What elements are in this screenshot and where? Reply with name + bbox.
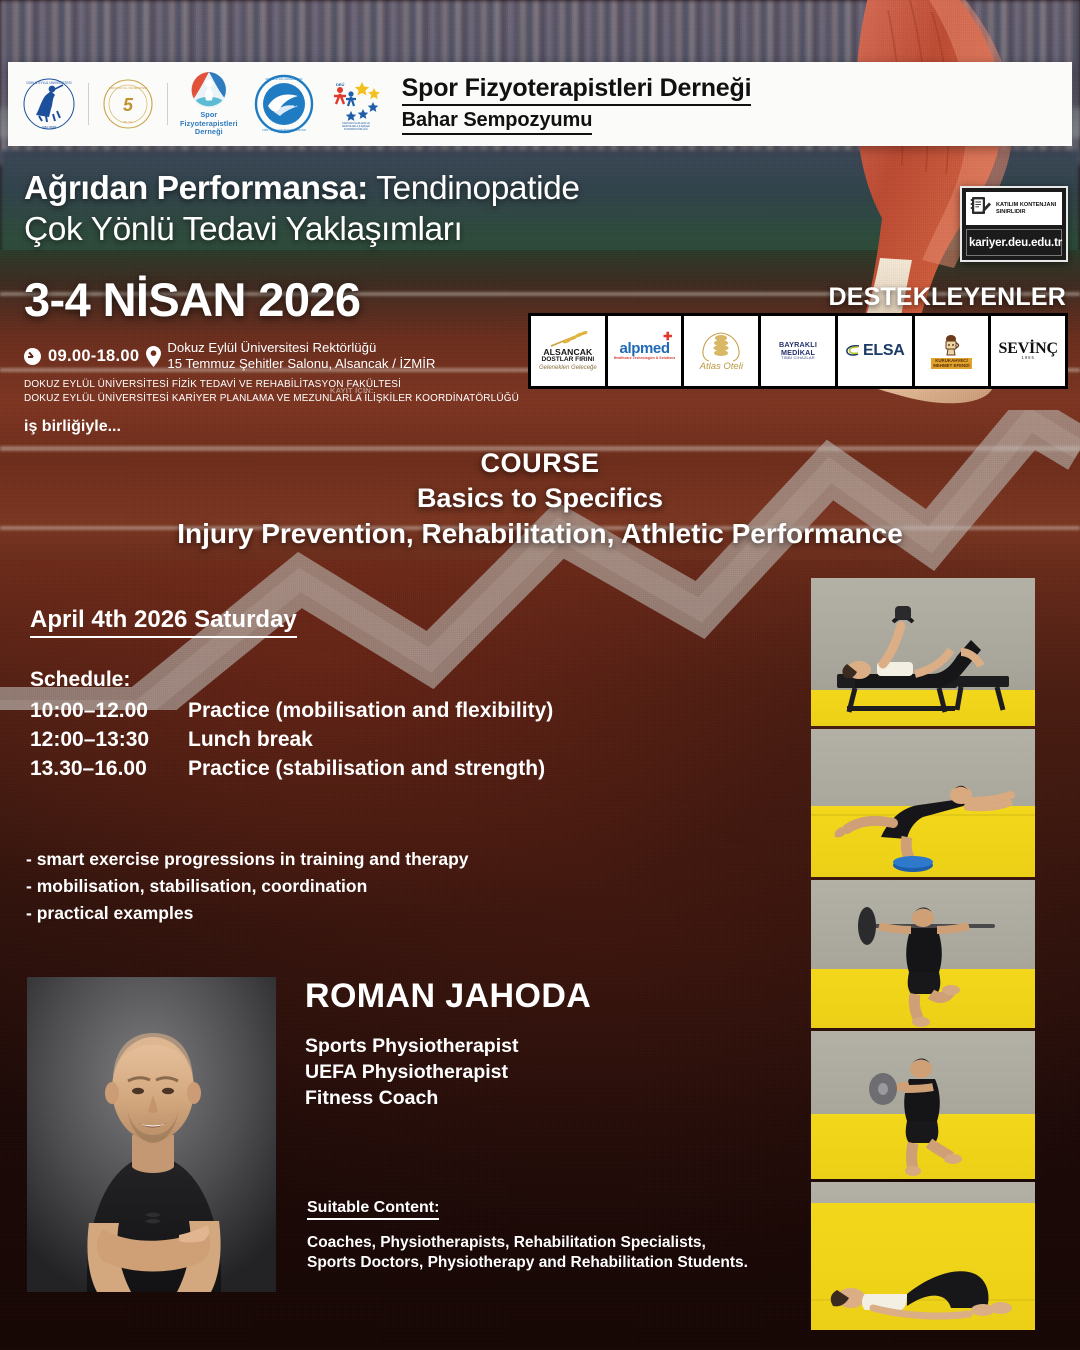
header-logo-group: DOKUZ EYLÜL ÜNİVERSİTESİ 1982 İZMİR 5 DO…: [8, 71, 384, 136]
schedule-block: Schedule: 10:00–12.00 Practice (mobilisa…: [30, 668, 553, 783]
course-label: COURSE: [0, 448, 1080, 479]
poster-root: DOKUZ EYLÜL ÜNİVERSİTESİ 1982 İZMİR 5 DO…: [0, 0, 1080, 1350]
atlas-oteli-logo: Atlas Oteli: [684, 316, 758, 386]
svg-text:DEÜ: DEÜ: [336, 82, 345, 87]
exercise-photo-barbell-front-squat-knee-raise: [811, 880, 1035, 1028]
quota-note-line-1: KATILIM KONTENJANI: [996, 202, 1056, 208]
course-heading-block: COURSE Basics to Specifics Injury Preven…: [0, 448, 1080, 550]
sponsor-text-1b: DOSTLAR FIRINI: [539, 357, 597, 364]
sevinc-logo: SEVİNÇ 1965: [991, 316, 1065, 386]
schedule-desc: Practice (stabilisation and strength): [188, 754, 545, 783]
suitable-content-heading: Suitable Content:: [307, 1199, 439, 1220]
svg-text:KOORDİNATÖRLÜĞÜ: KOORDİNATÖRLÜĞÜ: [344, 128, 369, 130]
bullet-item: - practical examples: [26, 900, 469, 927]
exercise-photo-strip: [811, 578, 1035, 1333]
speaker-role: Fitness Coach: [305, 1085, 518, 1111]
sponsor-text-3b: Atlas Oteli: [697, 362, 745, 372]
event-time: 09.00-18.00: [48, 347, 139, 366]
headline-bold: Ağrıdan Performansa:: [24, 170, 368, 207]
venue-line-2: 15 Temmuz Şehitler Salonu, Alsancak / İZ…: [167, 356, 435, 371]
sponsor-text-2b: Healthcare Technologies & Solutions: [614, 357, 676, 360]
schedule-heading: Schedule:: [30, 668, 553, 692]
sponsors-label: DESTEKLEYENLER: [828, 283, 1066, 312]
header-band: DOKUZ EYLÜL ÜNİVERSİTESİ 1982 İZMİR 5 DO…: [8, 62, 1072, 146]
course-bullets: - smart exercise progressions in trainin…: [26, 846, 469, 927]
venue-line-1: Dokuz Eylül Üniversitesi Rektörlüğü: [167, 340, 376, 355]
organiser-line-1: DOKUZ EYLÜL ÜNİVERSİTESİ FİZİK TEDAVİ VE…: [24, 378, 519, 392]
svg-text:5: 5: [123, 95, 134, 115]
logo-divider-2: [167, 83, 168, 125]
organiser-line-2: DOKUZ EYLÜL ÜNİVERSİTESİ KARİYER PLANLAM…: [24, 392, 519, 406]
kurukahveci-mehmet-efendi-logo: KURUKAHVECİ MEHMET EFENDİ: [915, 316, 989, 386]
schedule-time: 10:00–12.00: [30, 696, 188, 725]
schedule-day-title: April 4th 2026 Saturday: [30, 606, 297, 638]
alsancak-dostlar-firini-logo: ALSANCAK DOSTLAR FIRINI Geleneklen Gelec…: [531, 316, 605, 386]
anniversary-seal-logo: 5 DOKUZ EYLÜL ÜNİVERSİTESİ 50. YIL: [101, 77, 155, 131]
speaker-roles: Sports Physiotherapist UEFA Physiotherap…: [305, 1033, 518, 1111]
quota-note-row: KATILIM KONTENJANI SINIRLIDIR: [966, 192, 1062, 225]
suitable-line-2: Sports Doctors, Physiotherapy and Rehabi…: [307, 1253, 748, 1273]
schedule-row: 13.30–16.00 Practice (stabilisation and …: [30, 754, 553, 783]
schedule-desc: Lunch break: [188, 725, 313, 754]
exercise-photo-glute-bridge: [811, 1182, 1035, 1330]
schedule-row: 12:00–13:30 Lunch break: [30, 725, 553, 754]
svg-text:50. YIL: 50. YIL: [124, 120, 133, 124]
organisers: DOKUZ EYLÜL ÜNİVERSİTESİ FİZİK TEDAVİ VE…: [24, 378, 519, 405]
registration-badge[interactable]: KATILIM KONTENJANI SINIRLIDIR kariyer.de…: [960, 186, 1068, 262]
exercise-photo-bench-kettlebell-press: [811, 578, 1035, 726]
event-meta-row: 09.00-18.00 Dokuz Eylül Üniversitesi Rek…: [24, 340, 435, 372]
sponsor-strip: ALSANCAK DOSTLAR FIRINI Geleneklen Gelec…: [528, 313, 1068, 389]
elsa-swoosh-icon: [845, 344, 861, 358]
collaboration-note: iş birliğiyle...: [24, 418, 121, 436]
symposium-subtitle: Bahar Sempozyumu: [402, 109, 593, 135]
symposium-title: Spor Fizyoterapistleri Derneği: [402, 74, 752, 106]
roman-jahoda-portrait: [27, 977, 276, 1292]
page-title: Ağrıdan Performansa: Tendinopatide Çok Y…: [24, 168, 764, 250]
svg-text:DOKUZ EYLÜL ÜNİVERSİTESİ: DOKUZ EYLÜL ÜNİVERSİTESİ: [109, 85, 147, 90]
sponsor-text-6b: MEHMET EFENDİ: [933, 364, 969, 369]
registration-note: KAYIT İÇİN:: [330, 386, 374, 395]
event-venue: Dokuz Eylül Üniversitesi Rektörlüğü 15 T…: [167, 340, 435, 372]
speaker-role: UEFA Physiotherapist: [305, 1059, 518, 1085]
spor-fizyoterapistleri-dernegi-logo: SporFizyoterapistleriDerneği: [180, 71, 238, 136]
schedule-row: 10:00–12.00 Practice (mobilisation and f…: [30, 696, 553, 725]
sponsor-text-1c: Geleneklen Geleceğe: [539, 365, 597, 371]
event-date: 3-4 NİSAN 2026: [24, 272, 360, 327]
logo-divider: [88, 83, 89, 125]
svg-text:1982 İZMİR: 1982 İZMİR: [42, 124, 57, 129]
schedule-desc: Practice (mobilisation and flexibility): [188, 696, 553, 725]
sponsor-text-4a: BAYRAKLI MEDİKAL: [761, 341, 835, 356]
speaker-role: Sports Physiotherapist: [305, 1033, 518, 1059]
bullet-item: - smart exercise progressions in trainin…: [26, 846, 469, 873]
sponsor-text-5a: ELSA: [863, 343, 904, 360]
schedule-time: 12:00–13:30: [30, 725, 188, 754]
clock-icon: [24, 348, 41, 365]
sponsor-text-4b: TIBBİ CİHAZLAR: [761, 356, 835, 360]
spor-dernegi-logo-caption: SporFizyoterapistleriDerneği: [180, 111, 238, 136]
suitable-line-1: Coaches, Physiotherapists, Rehabilitatio…: [307, 1233, 748, 1253]
quota-note-text: KATILIM KONTENJANI SINIRLIDIR: [996, 202, 1056, 216]
svg-text:DOKUZ EYLÜL ÜNİVERSİTESİ: DOKUZ EYLÜL ÜNİVERSİTESİ: [26, 80, 71, 85]
header-title-group: Spor Fizyoterapistleri Derneği Bahar Sem…: [402, 74, 752, 135]
registration-url[interactable]: kariyer.deu.edu.tr: [966, 229, 1062, 256]
course-topics: Injury Prevention, Rehabilitation, Athle…: [0, 518, 1080, 550]
bullet-item: - mobilisation, stabilisation, coordinat…: [26, 873, 469, 900]
schedule-time: 13.30–16.00: [30, 754, 188, 783]
speaker-name: ROMAN JAHODA: [305, 977, 591, 1016]
location-pin-icon: [146, 346, 161, 367]
fizik-tedavi-fakultesi-logo: DOKUZ EYLÜL ÜNİVERSİTESİ FİZİK TEDAVİ VE…: [254, 74, 314, 134]
alpmed-logo: ✚ alpmed Healthcare Technologies & Solut…: [608, 316, 682, 386]
quota-note-line-2: SINIRLIDIR: [996, 209, 1026, 215]
deu-kariyer-planlama-logo: DEÜ KARİYER PLANLAMA VE MEZUNLARLA İLİŞK…: [328, 78, 384, 130]
elsa-logo: ELSA: [838, 316, 912, 386]
medical-cross-icon: ✚: [663, 332, 672, 344]
registration-form-icon: [970, 196, 992, 221]
exercise-photo-weight-plate-rotation: [811, 1031, 1035, 1179]
headline-rest: Tendinopatide: [368, 170, 580, 207]
course-subtitle: Basics to Specifics: [0, 483, 1080, 514]
exercise-photo-single-leg-balance-board: [811, 729, 1035, 877]
suitable-content-body: Coaches, Physiotherapists, Rehabilitatio…: [307, 1233, 748, 1273]
headline-line2: Çok Yönlü Tedavi Yaklaşımları: [24, 211, 462, 248]
dokuz-eylul-universitesi-logo: DOKUZ EYLÜL ÜNİVERSİTESİ 1982 İZMİR: [22, 77, 76, 131]
bayrakli-medikal-logo: BAYRAKLI MEDİKAL TIBBİ CİHAZLAR: [761, 316, 835, 386]
